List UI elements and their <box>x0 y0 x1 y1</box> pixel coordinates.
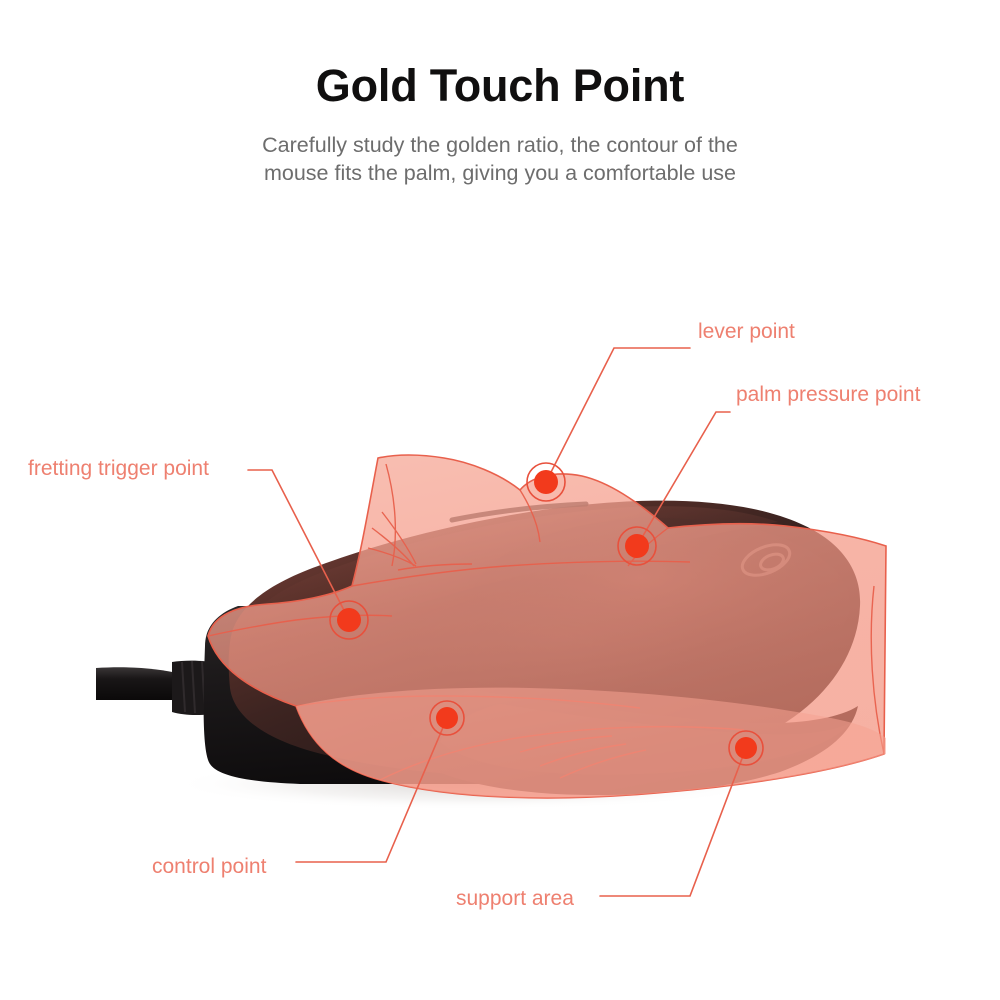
annotation-label-control-point: control point <box>152 856 266 877</box>
mouse-cable <box>96 661 222 715</box>
leader-lever-point <box>546 348 690 482</box>
annotation-label-fretting-trigger-point: fretting trigger point <box>28 458 209 479</box>
annotation-label-support-area: support area <box>456 888 574 909</box>
annotation-label-palm-pressure-point: palm pressure point <box>736 384 920 405</box>
infographic-page: Gold Touch Point Carefully study the gol… <box>0 0 1000 1000</box>
annotation-label-lever-point: lever point <box>698 321 795 342</box>
product-illustration <box>0 0 1000 1000</box>
